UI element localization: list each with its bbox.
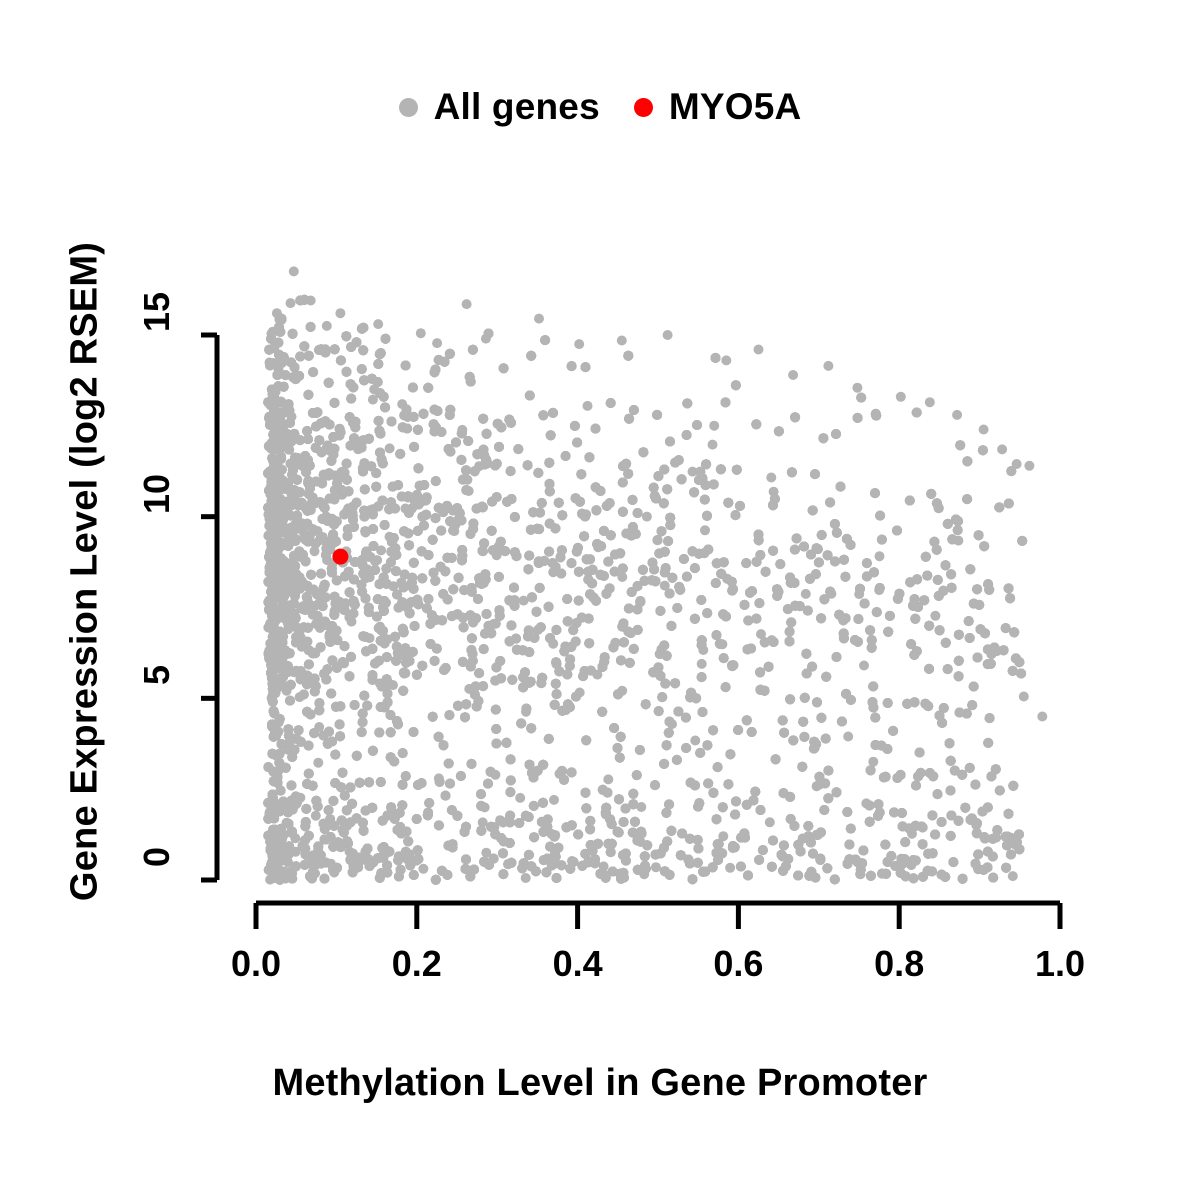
x-tick-label-4: 0.8 bbox=[874, 943, 924, 985]
x-tick-label-3: 0.6 bbox=[713, 943, 763, 985]
x-tick-label-2: 0.4 bbox=[553, 943, 603, 985]
x-tick-label-0: 0.0 bbox=[231, 943, 281, 985]
x-tick-label-1: 0.2 bbox=[392, 943, 442, 985]
plot-canvas bbox=[0, 0, 1200, 1200]
y-axis-title: Gene Expression Level (log2 RSEM) bbox=[64, 72, 107, 1072]
x-tick-label-5: 1.0 bbox=[1035, 943, 1085, 985]
scatter-plot-figure: All genes MYO5A Methylation Level in Gen… bbox=[0, 0, 1200, 1200]
y-tick-label-1: 5 bbox=[136, 653, 178, 697]
highlight-point-layer bbox=[332, 549, 348, 565]
x-axis-title: Methylation Level in Gene Promoter bbox=[0, 1062, 1200, 1105]
y-tick-label-0: 0 bbox=[136, 835, 178, 879]
y-tick-label-3: 15 bbox=[136, 290, 178, 334]
y-tick-label-2: 10 bbox=[136, 472, 178, 516]
